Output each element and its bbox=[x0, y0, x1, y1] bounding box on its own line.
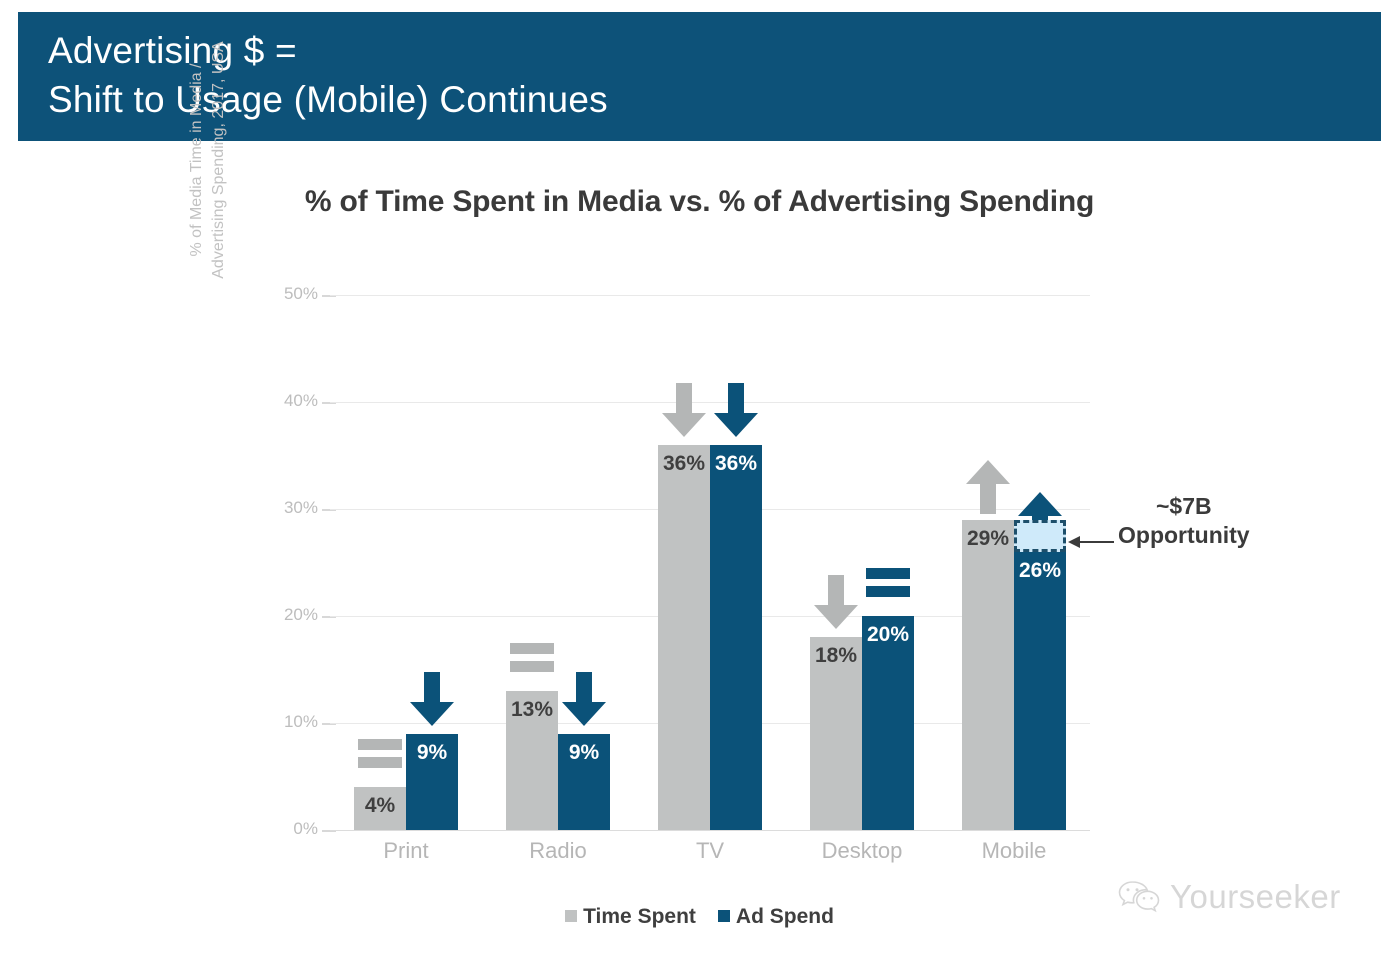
y-tick-label-50%: 50% bbox=[264, 284, 318, 304]
y-axis-label: % of Media Time in Media / Advertising S… bbox=[186, 0, 230, 330]
y-tick-label-0%: 0% bbox=[264, 819, 318, 839]
bar-value-label: 36% bbox=[658, 452, 710, 476]
gridline-40% bbox=[330, 402, 1090, 403]
legend-label: Ad Spend bbox=[736, 905, 834, 928]
bar-value-label: 18% bbox=[810, 644, 862, 668]
arrow-down-icon bbox=[561, 672, 607, 728]
bar-value-label: 36% bbox=[710, 452, 762, 476]
arrow-down-icon bbox=[813, 575, 859, 631]
bar-value-label: 26% bbox=[1014, 559, 1066, 583]
gridline-0% bbox=[330, 830, 1090, 831]
bar-value-label: 9% bbox=[406, 741, 458, 765]
opportunity-box[interactable] bbox=[1014, 520, 1066, 552]
y-tick-label-30%: 30% bbox=[264, 498, 318, 518]
equals-icon bbox=[357, 725, 403, 781]
equals-icon bbox=[865, 554, 911, 610]
bar-value-label: 20% bbox=[862, 623, 914, 647]
bar-print-time-spent[interactable]: 4% bbox=[354, 787, 406, 830]
opportunity-caption: Opportunity bbox=[1118, 521, 1250, 550]
x-axis-label-print: Print bbox=[330, 838, 482, 864]
wechat-icon bbox=[1118, 880, 1160, 914]
x-axis-label-desktop: Desktop bbox=[786, 838, 938, 864]
x-axis-label-mobile: Mobile bbox=[938, 838, 1090, 864]
bar-print-ad-spend[interactable]: 9% bbox=[406, 734, 458, 830]
arrow-down-icon bbox=[409, 672, 455, 728]
y-tick-label-10%: 10% bbox=[264, 712, 318, 732]
y-tick-label-40%: 40% bbox=[264, 391, 318, 411]
opportunity-amount: ~$7B bbox=[1118, 492, 1250, 521]
legend-item-ad-spend[interactable]: Ad Spend bbox=[718, 905, 834, 929]
bar-tv-ad-spend[interactable]: 36% bbox=[710, 445, 762, 830]
bar-mobile-ad-spend[interactable]: 26% bbox=[1014, 552, 1066, 830]
watermark: Yourseeker bbox=[1118, 878, 1341, 916]
bar-radio-ad-spend[interactable]: 9% bbox=[558, 734, 610, 830]
bar-tv-time-spent[interactable]: 36% bbox=[658, 445, 710, 830]
arrow-down-icon bbox=[661, 383, 707, 439]
legend-item-time-spent[interactable]: Time Spent bbox=[565, 905, 696, 929]
y-axis-label-line1: % of Media Time in Media / bbox=[188, 64, 205, 257]
bar-desktop-ad-spend[interactable]: 20% bbox=[862, 616, 914, 830]
watermark-text: Yourseeker bbox=[1170, 878, 1341, 916]
legend-swatch bbox=[565, 910, 577, 922]
x-axis-label-tv: TV bbox=[634, 838, 786, 864]
bar-radio-time-spent[interactable]: 13% bbox=[506, 691, 558, 830]
plot-area: 4%9%13%9%36%36%18%20%29%26% bbox=[330, 295, 1090, 830]
bar-mobile-time-spent[interactable]: 29% bbox=[962, 520, 1014, 830]
opportunity-annotation: ~$7B Opportunity bbox=[1118, 492, 1250, 550]
bar-desktop-time-spent[interactable]: 18% bbox=[810, 637, 862, 830]
gridline-50% bbox=[330, 295, 1090, 296]
header-title-line1: Advertising $ = bbox=[48, 26, 1381, 75]
legend-swatch bbox=[718, 910, 730, 922]
bar-value-label: 13% bbox=[506, 698, 558, 722]
equals-icon bbox=[509, 629, 555, 685]
y-axis-label-line2: Advertising Spending, 2017, USA bbox=[208, 0, 230, 330]
x-axis-label-radio: Radio bbox=[482, 838, 634, 864]
arrow-up-icon bbox=[965, 458, 1011, 514]
bar-value-label: 29% bbox=[962, 527, 1014, 551]
bar-value-label: 9% bbox=[558, 741, 610, 765]
y-tick-label-20%: 20% bbox=[264, 605, 318, 625]
opportunity-arrow-icon bbox=[1068, 535, 1114, 549]
header-title-line2: Shift to Usage (Mobile) Continues bbox=[48, 75, 1381, 124]
bar-value-label: 4% bbox=[354, 794, 406, 818]
legend-label: Time Spent bbox=[583, 905, 696, 928]
arrow-down-icon bbox=[713, 383, 759, 439]
